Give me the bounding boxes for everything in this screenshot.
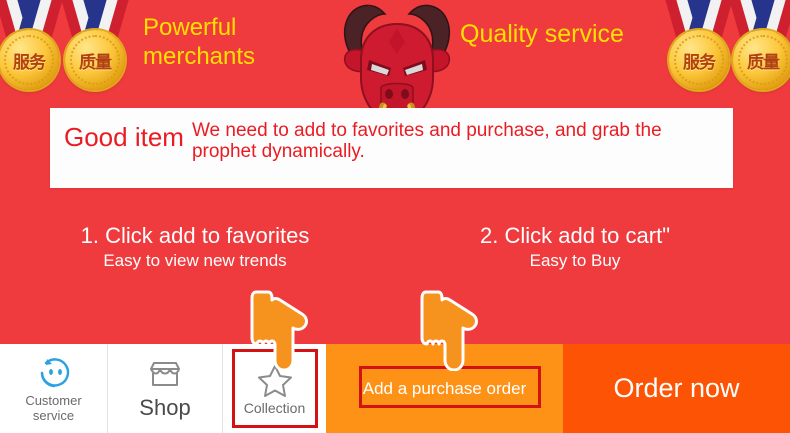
pointing-hand-icon-collection (244, 286, 322, 371)
order-now-label: Order now (613, 373, 739, 404)
banner-title: Good item (64, 120, 184, 150)
banner-body-line-1: We need to add to favorites and purchase… (192, 120, 662, 141)
step-one-subtext: Easy to view new trends (30, 250, 360, 272)
shop-label: Shop (139, 396, 190, 421)
step-one: 1. Click add to favorites Easy to view n… (30, 222, 360, 272)
medal-label: 质量 (747, 48, 779, 73)
add-purchase-order-label: Add a purchase order (363, 379, 527, 399)
headline-quality-service: Quality service (460, 20, 624, 49)
step-one-heading: 1. Click add to favorites (30, 222, 360, 250)
medal-label: 服务 (683, 48, 715, 73)
description-banner: Good item We need to add to favorites an… (50, 108, 733, 188)
medal-disc: 服务 (669, 30, 729, 90)
promo-banner-canvas: 服务 质量 服务 质量 Powerful merchants (0, 0, 790, 433)
pointing-hand-icon-add-order (414, 286, 492, 371)
step-two-heading: 2. Click add to cart" (420, 222, 730, 250)
medal-disc: 质量 (733, 30, 790, 90)
customer-service-label-line-1: Customer (25, 394, 81, 409)
headline-line-2: merchants (143, 42, 333, 71)
customer-service-label-line-2: service (33, 409, 74, 424)
medal-service-right: 服务 (666, 2, 732, 94)
headline-line-1: Powerful (143, 13, 333, 42)
medal-disc: 质量 (65, 30, 125, 90)
step-two: 2. Click add to cart" Easy to Buy (420, 222, 730, 272)
medal-label: 服务 (13, 48, 45, 73)
medal-quality-right: 质量 (730, 2, 790, 94)
medal-service-left: 服务 (0, 2, 62, 94)
medal-quality-left: 质量 (62, 2, 128, 94)
headline-powerful-merchants: Powerful merchants (143, 13, 333, 72)
storefront-icon (146, 356, 184, 394)
medal-label: 质量 (79, 48, 111, 73)
medal-disc: 服务 (0, 30, 59, 90)
bottom-action-bar: Customer service Shop Collection Ad (0, 344, 790, 433)
step-two-subtext: Easy to Buy (420, 250, 730, 272)
smiley-face-icon (35, 354, 73, 392)
bottom-bar-item-shop[interactable]: Shop (107, 344, 222, 433)
bottom-bar-item-customer-service[interactable]: Customer service (0, 344, 107, 433)
collection-label: Collection (244, 401, 305, 417)
bottom-bar-item-order-now[interactable]: Order now (563, 344, 790, 433)
